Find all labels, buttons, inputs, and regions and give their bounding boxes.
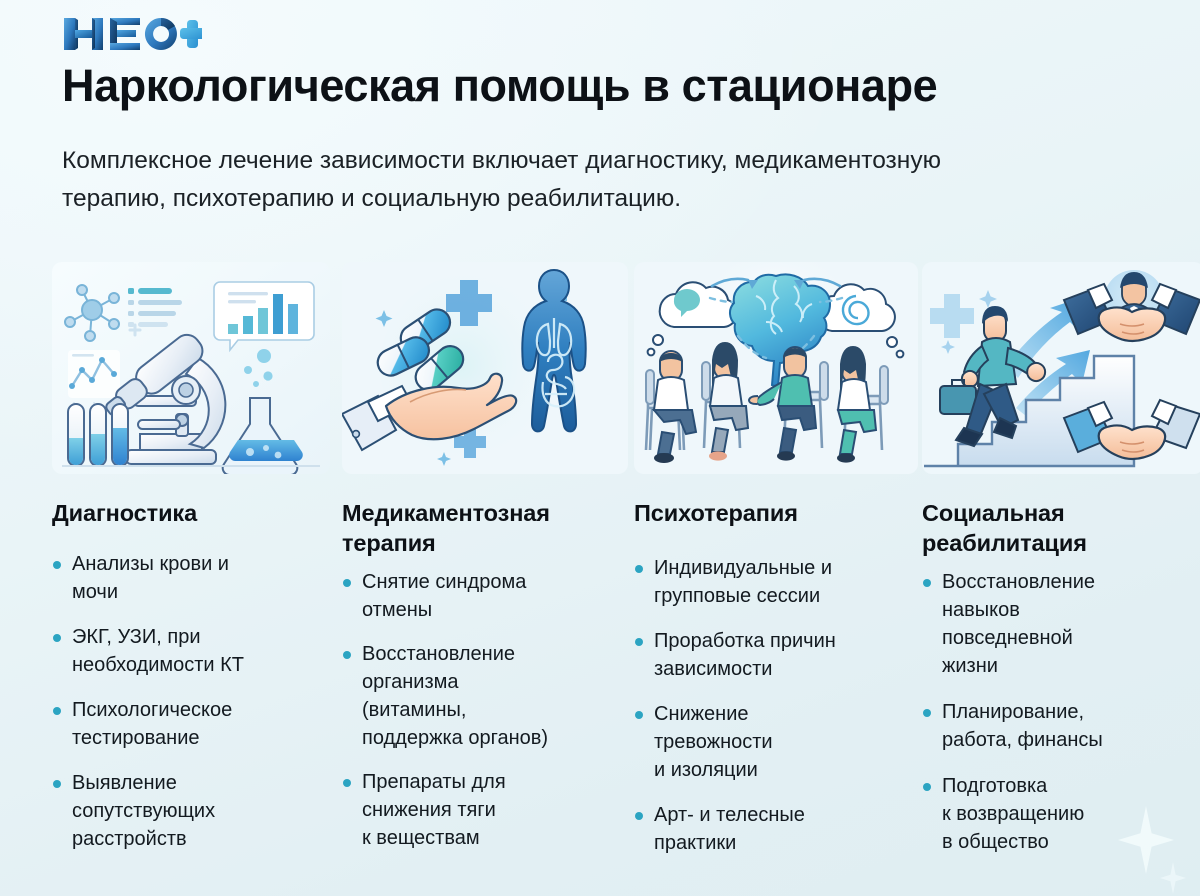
psychotherapy-group-illustration [634,262,910,474]
bullet-dot-icon [635,812,643,820]
column-bullet-list: Анализы крови и мочи ЭКГ, УЗИ, при необх… [52,550,330,853]
bullet-dot-icon [635,565,643,573]
list-item: Подготовка к возвращению в общество [922,772,1196,856]
group-therapy-brain-icon [634,262,918,474]
column-social-rehabilitation: Социальная реабилитация Восстановление н… [922,262,1200,892]
list-item: Планирование, работа, финансы [922,698,1196,754]
column-title: Психотерапия [634,498,910,528]
content-columns: Диагностика Анализы крови и мочи ЭКГ, УЗ… [0,262,1200,892]
bullet-dot-icon [53,561,61,569]
list-item: Психологическое тестирование [52,696,330,752]
column-bullet-list: Индивидуальные и групповые сессии Прораб… [634,554,910,857]
column-title: Диагностика [52,498,330,528]
bullet-dot-icon [343,779,351,787]
list-item: Препараты для снижения тяги к веществам [342,768,622,852]
bullet-dot-icon [53,780,61,788]
medication-therapy-illustration [342,262,622,474]
bullet-dot-icon [635,711,643,719]
list-item: Снижение тревожности и изоляции [634,700,910,784]
pills-hand-body-icon [342,262,628,474]
bullet-dot-icon [635,638,643,646]
infographic-page: Наркологическая помощь в стационаре Комп… [0,0,1200,896]
column-psychotherapy: Психотерапия Индивидуальные и групповые … [634,262,922,892]
diagnostics-lab-illustration [52,262,330,474]
column-title: Социальная реабилитация [922,498,1196,558]
list-item: Восстановление организма (витамины, подд… [342,640,622,752]
brand-logo [62,14,202,54]
list-item: Индивидуальные и групповые сессии [634,554,910,610]
bullet-dot-icon [923,579,931,587]
list-item: Арт- и телесные практики [634,801,910,857]
list-item: ЭКГ, УЗИ, при необходимости КТ [52,623,330,679]
column-bullet-list: Снятие синдрома отмены Восстановление ор… [342,568,622,868]
page-title: Наркологическая помощь в стационаре [62,59,1152,112]
page-subtitle: Комплексное лечение зависимости включает… [62,142,962,218]
bullet-dot-icon [343,651,351,659]
bullet-dot-icon [343,579,351,587]
column-diagnostics: Диагностика Анализы крови и мочи ЭКГ, УЗ… [52,262,342,892]
list-item: Снятие синдрома отмены [342,568,622,624]
bullet-dot-icon [923,783,931,791]
list-item: Анализы крови и мочи [52,550,330,606]
list-item: Выявление сопутствующих расстройств [52,769,330,853]
bullet-dot-icon [53,707,61,715]
neo-plus-logo-icon [62,14,202,54]
stairs-handshake-icon [922,262,1200,474]
column-bullet-list: Восстановление навыков повседневной жизн… [922,568,1196,874]
bullet-dot-icon [53,634,61,642]
column-medication: Медикаментозная терапия Снятие синдрома … [342,262,634,892]
list-item: Проработка причин зависимости [634,627,910,683]
list-item: Восстановление навыков повседневной жизн… [922,568,1196,680]
column-title: Медикаментозная терапия [342,498,622,558]
bullet-dot-icon [923,709,931,717]
social-rehabilitation-illustration [922,262,1196,474]
microscope-lab-icon [52,262,330,474]
